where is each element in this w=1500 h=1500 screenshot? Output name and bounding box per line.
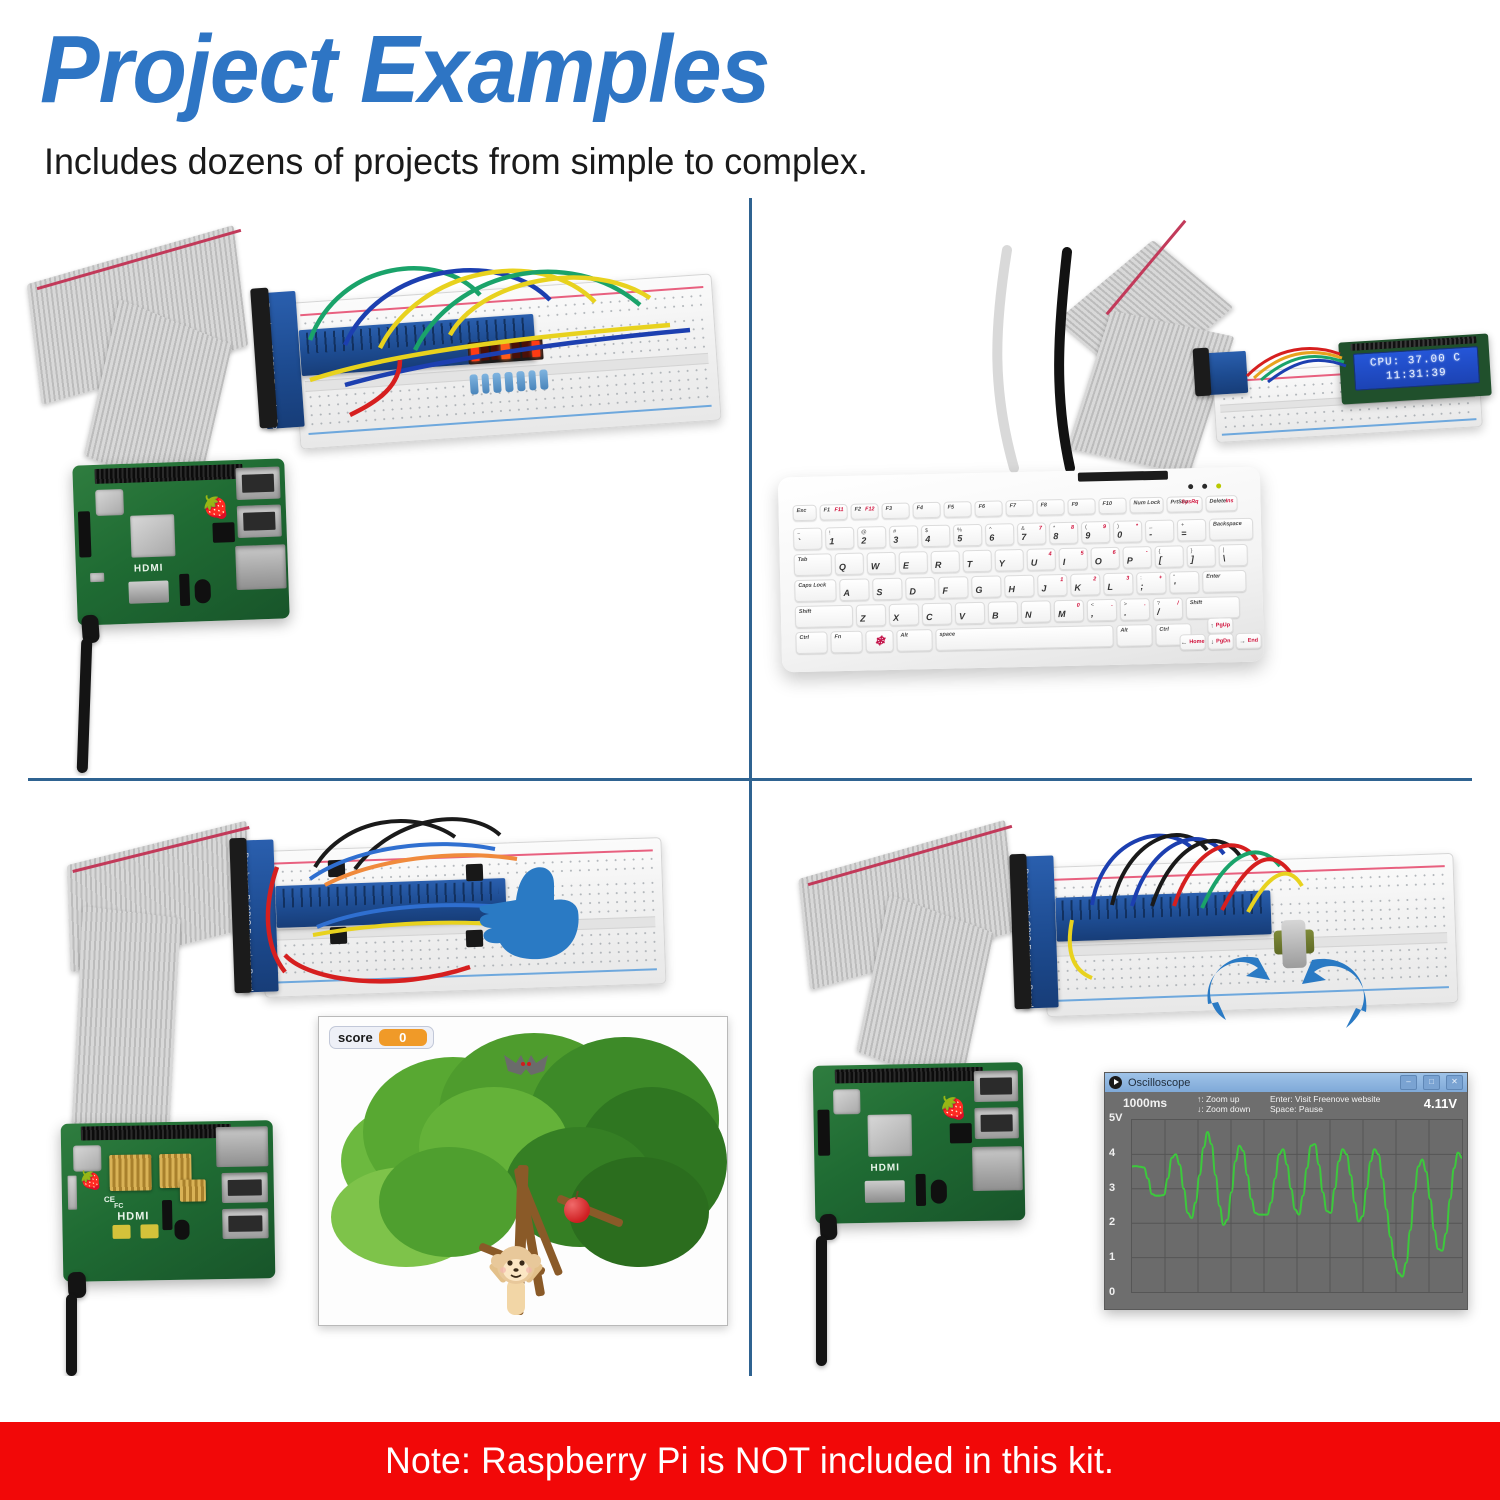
voltage-readout: 4.11V [1424, 1096, 1457, 1111]
key-z[interactable]: Z [856, 604, 886, 627]
key-alt-label: 1 [1060, 577, 1063, 583]
project-panel-scratch-game: Raspberry Pi GPIO Extension Board 🍓 HDMI… [0, 782, 749, 1376]
key-main-label: 3 [893, 535, 898, 545]
key-f9[interactable]: F9 [1067, 498, 1095, 515]
key-q[interactable]: Q [835, 553, 864, 576]
key-raspberry-logo-icon[interactable]: ❄ [865, 630, 893, 653]
key-x[interactable]: X [889, 603, 919, 626]
key-key[interactable]: _- [1145, 520, 1174, 543]
key-main-label: G [975, 585, 982, 595]
key-main-label: F [942, 586, 948, 596]
note-text: Note: Raspberry Pi is NOT included in th… [386, 1440, 1115, 1482]
key-f4[interactable]: F4 [912, 502, 940, 519]
raspberry-pi-board: 🍓 HDMI [813, 1062, 1026, 1224]
key-main-label: R [935, 560, 942, 570]
key-pgdn[interactable]: ↓PgDn [1208, 633, 1234, 650]
key-key[interactable]: += [1177, 519, 1206, 542]
key-arrow-icon: → [1239, 637, 1246, 644]
key-alt-label: 9 [1103, 524, 1106, 530]
key-main-label: 8 [1053, 531, 1058, 541]
jumper-wires [1052, 810, 1382, 990]
key-key[interactable]: <,. [1087, 599, 1117, 622]
key-alt-label: 5 [1081, 551, 1084, 557]
key-main-label: K [1074, 583, 1081, 593]
key-label: Home [1189, 639, 1204, 645]
oscilloscope-infobar: 1000ms ↑: Zoom up ↓: Zoom down Enter: Vi… [1105, 1092, 1467, 1119]
key-6[interactable]: ^6 [985, 523, 1014, 546]
y-axis-label: 0 [1109, 1286, 1115, 1298]
project-panel-lcd-cpu: CPU: 37.00 C 11:31:39 EscF1F11F2F12F3F4F… [752, 200, 1500, 776]
key-f7[interactable]: F7 [1005, 500, 1033, 517]
key-fn[interactable]: Fn [830, 631, 862, 654]
key-main-label: ; [1140, 581, 1143, 591]
key-alt-label: Ins [1225, 498, 1233, 504]
raspberry-pi-4-board: 🍓 HDMI CE FC [61, 1120, 276, 1282]
key-0[interactable]: )0* [1113, 520, 1142, 543]
keyboard-function-row[interactable]: EscF1F11F2F12F3F4F5F6F7F8F9F10Num LockPr… [792, 495, 1237, 521]
key-alt-label: 8 [1071, 525, 1074, 531]
key-main-label: A [843, 588, 850, 598]
bat-sprite [503, 1051, 549, 1081]
key-alt-label: 4 [1049, 551, 1052, 557]
key-main-label: S [876, 587, 882, 597]
key-label: space [939, 632, 955, 638]
minimize-button[interactable]: – [1400, 1075, 1417, 1090]
key-label: Alt [1120, 628, 1127, 634]
key-main-label: Y [999, 558, 1005, 568]
key-f3[interactable]: F3 [881, 503, 909, 520]
key-enter[interactable]: Enter [1202, 570, 1246, 593]
key-main-label: 1 [829, 536, 834, 546]
key-arrow-icon: ← [1181, 639, 1188, 646]
key-g[interactable]: G [971, 575, 1001, 598]
oscilloscope-titlebar[interactable]: Oscilloscope – □ ✕ [1105, 1073, 1467, 1092]
usb-cables [962, 240, 1132, 475]
key-5[interactable]: %5 [953, 524, 982, 547]
key-alt-label: . [1144, 601, 1146, 607]
oscilloscope-trace [1132, 1120, 1462, 1292]
play-icon [1109, 1076, 1122, 1089]
key-main-label: ] [1191, 554, 1194, 564]
key-delete[interactable]: DeleteIns [1205, 495, 1237, 512]
key-f5[interactable]: F5 [943, 501, 971, 518]
key-main-label: W [871, 561, 880, 571]
score-label: score [338, 1030, 373, 1045]
key-space[interactable]: space [935, 625, 1113, 651]
key-main-label: - [1149, 529, 1152, 539]
key-main-label: 5 [957, 533, 962, 543]
page-subtitle: Includes dozens of projects from simple … [44, 142, 868, 182]
key-key[interactable]: |\ [1218, 544, 1247, 567]
key-label: F10 [1102, 501, 1112, 507]
key-label: Delete [1209, 498, 1226, 504]
key-alt[interactable]: Alt [1116, 624, 1152, 647]
key-label: Num Lock [1133, 500, 1160, 507]
key-shift[interactable]: Shift [1186, 596, 1240, 619]
key-label: Shift [799, 609, 811, 615]
key-main-label: E [903, 561, 909, 571]
key-main-label: X [893, 613, 899, 623]
oscilloscope-window[interactable]: Oscilloscope – □ ✕ 1000ms ↑: Zoom up ↓: … [1104, 1072, 1468, 1310]
key-caps-lock[interactable]: Caps Lock [794, 579, 836, 602]
key-arrow-icon: ↑ [1210, 622, 1213, 629]
key-1[interactable]: !1 [825, 527, 854, 550]
keyboard-connector [1078, 471, 1168, 482]
keyboard-led-2 [1216, 483, 1221, 488]
key-4[interactable]: $4 [921, 525, 950, 548]
timebase-label: 1000ms [1123, 1096, 1167, 1110]
key-ctrl[interactable]: Ctrl [795, 631, 827, 654]
keyboard-indicator-leds [1188, 483, 1221, 489]
key-f10[interactable]: F10 [1098, 498, 1126, 515]
key-label: F1 [824, 507, 831, 513]
key-f2[interactable]: F2F12 [850, 503, 878, 520]
key-8[interactable]: *88 [1049, 522, 1078, 545]
key-key[interactable]: ~` [793, 528, 822, 551]
key-main-label: Z [860, 614, 866, 624]
key-label: F7 [1009, 503, 1016, 509]
key-main-label: 2 [861, 536, 866, 546]
key-main-label: ` [797, 537, 800, 547]
key-label: F4 [917, 505, 924, 511]
key-main-label: 0 [1117, 530, 1122, 540]
key-f1[interactable]: F1F11 [819, 504, 847, 521]
key-main-label: 9 [1085, 530, 1090, 540]
page-title: Project Examples [40, 22, 769, 118]
key-h[interactable]: H [1004, 575, 1034, 598]
key-label: PgUp [1216, 622, 1231, 628]
score-badge: score 0 [329, 1026, 434, 1049]
key-w[interactable]: W [867, 552, 896, 575]
key-key[interactable]: >.. [1120, 598, 1150, 621]
note-banner: Note: Raspberry Pi is NOT included in th… [0, 1422, 1500, 1500]
key-alt-label: 2 [1093, 576, 1096, 582]
key-label: F9 [1071, 502, 1078, 508]
key-label: Esc [797, 508, 807, 514]
key-label: F8 [1040, 502, 1047, 508]
window-title: Oscilloscope [1128, 1077, 1394, 1089]
key-alt-label: . [1111, 602, 1113, 608]
key-key[interactable]: {[ [1155, 545, 1184, 568]
key-main-label: U [1031, 558, 1038, 568]
power-cable [77, 638, 93, 773]
key-f6[interactable]: F6 [974, 500, 1002, 517]
project-panel-led-bar: Raspberry Pi GPIO Extension Board [0, 200, 749, 776]
key-key[interactable]: :;+ [1136, 572, 1166, 595]
key-alt-label: 6 [1113, 550, 1116, 556]
y-axis-label: 2 [1109, 1216, 1115, 1228]
key-home[interactable]: ←Home [1180, 634, 1206, 651]
jumper-wires [255, 807, 655, 1007]
key-alt-label: * [1136, 523, 1138, 529]
key-alt-label: 3 [1126, 576, 1129, 582]
key-main-label: . [1124, 608, 1127, 618]
key-key[interactable]: ?// [1153, 597, 1183, 620]
y-axis-label: 5V [1109, 1112, 1122, 1124]
hint-space-pause: Space: Pause [1270, 1104, 1323, 1114]
power-cable [66, 1294, 77, 1376]
key-main-label: I [1063, 557, 1066, 567]
jumper-wires [250, 240, 720, 440]
key-2[interactable]: @2 [857, 526, 886, 549]
key-3[interactable]: #3 [889, 525, 918, 548]
close-button[interactable]: ✕ [1446, 1075, 1463, 1090]
key-i[interactable]: I5 [1059, 547, 1088, 570]
key-label: End [1248, 638, 1259, 644]
key-tab[interactable]: Tab [794, 553, 832, 576]
key-label: Shift [1190, 600, 1202, 606]
key-label: F3 [886, 506, 893, 512]
key-main-label: H [1008, 584, 1015, 594]
hint-zoom-down: ↓: Zoom down [1197, 1104, 1250, 1114]
pointing-hand-icon [462, 854, 587, 964]
key-pgup[interactable]: ↑PgUp [1207, 617, 1233, 634]
key-alt-label: 7 [1039, 526, 1042, 532]
project-panel-oscilloscope: Raspberry Pi GPIO Extension Board 🍓 HDMI [752, 782, 1500, 1376]
key-y[interactable]: Y [995, 549, 1024, 572]
key-u[interactable]: U4 [1027, 548, 1056, 571]
key-l[interactable]: L3 [1103, 572, 1133, 595]
page-header: Project Examples Includes dozens of proj… [0, 0, 1500, 195]
key-label: PgDn [1216, 638, 1231, 644]
key-n[interactable]: N [1021, 600, 1051, 623]
key-main-label: N [1025, 610, 1032, 620]
keyboard-led-0 [1188, 484, 1193, 489]
key-7[interactable]: &77 [1017, 522, 1046, 545]
hint-enter-website: Enter: Visit Freenove website [1270, 1094, 1380, 1104]
key-d[interactable]: D [905, 577, 935, 600]
key-label: Backspace [1213, 521, 1242, 528]
key-main-label: M [1058, 609, 1066, 619]
key-c[interactable]: C [922, 603, 952, 626]
key-main-label: 6 [989, 533, 994, 543]
key-arrow-icon: ↓ [1211, 638, 1214, 645]
key-main-label: Q [839, 562, 846, 572]
key-alt-label: - [1146, 549, 1148, 555]
key-main-label: B [992, 611, 999, 621]
key-esc[interactable]: Esc [792, 505, 816, 522]
key-label: Fn [834, 634, 841, 640]
key-9[interactable]: (99 [1081, 521, 1110, 544]
key-label: Caps Lock [798, 582, 826, 589]
oscilloscope-plot-area [1131, 1119, 1463, 1293]
key-main-label: 4 [925, 534, 930, 544]
key-label: Alt [900, 633, 907, 639]
keyboard-led-1 [1202, 484, 1207, 489]
key-main-label: 7 [1021, 532, 1026, 542]
key-main-label: D [909, 586, 916, 596]
key-main-label: O [1095, 556, 1102, 566]
key-alt-label: / [1177, 600, 1179, 606]
key-alt-label: F11 [834, 507, 843, 513]
key-label: F5 [948, 505, 955, 511]
lcd-line-2: 11:31:39 [1386, 367, 1448, 384]
key-main-label: P [1127, 555, 1133, 565]
key-num-lock[interactable]: Num Lock [1129, 497, 1163, 514]
key-j[interactable]: J1 [1037, 574, 1067, 597]
key-alt[interactable]: Alt [896, 629, 932, 652]
key-shift[interactable]: Shift [795, 605, 853, 628]
key-r[interactable]: R [931, 550, 960, 573]
key-label: Enter [1206, 573, 1220, 579]
key-f[interactable]: F [938, 576, 968, 599]
key-k[interactable]: K2 [1070, 573, 1100, 596]
key-alt-label: + [1159, 575, 1162, 581]
key-t[interactable]: T [963, 550, 992, 573]
key-s[interactable]: S [872, 578, 902, 601]
idc-connector [1193, 348, 1212, 397]
key-e[interactable]: E [899, 551, 928, 574]
maximize-button[interactable]: □ [1423, 1075, 1440, 1090]
key-main-label: T [967, 559, 973, 569]
key-main-label: V [959, 611, 965, 621]
key-spacer [1179, 618, 1205, 633]
key-alt-label: SysRq [1181, 499, 1198, 505]
key-alt-label: F12 [865, 506, 875, 512]
key-o[interactable]: O6 [1091, 547, 1120, 570]
key-label: F6 [979, 504, 986, 510]
apple-sprite [564, 1197, 590, 1223]
keyboard-navigation-keys[interactable]: ↑PgUp←Home↓PgDn→End [1179, 617, 1262, 649]
key-main-label: C [926, 612, 933, 622]
key-alt-label: 0 [1077, 603, 1080, 609]
keyboard-modifier-row[interactable]: CtrlFn❄AltspaceAltCtrl [795, 623, 1191, 654]
hint-zoom-up: ↑: Zoom up [1197, 1094, 1240, 1104]
score-value: 0 [379, 1029, 427, 1046]
y-axis-label: 1 [1109, 1251, 1115, 1263]
key-main-label: = [1181, 528, 1186, 538]
key-main-label: , [1091, 608, 1094, 618]
scratch-stage[interactable]: score 0 [318, 1016, 728, 1326]
key-end[interactable]: →End [1235, 633, 1261, 650]
key-main-label: J [1041, 583, 1046, 593]
monkey-sprite [485, 1239, 547, 1319]
key-prtscn[interactable]: PrtScnSysRq [1166, 496, 1202, 513]
key-label: Ctrl [1159, 627, 1169, 633]
key-label: Ctrl [799, 635, 809, 641]
key-v[interactable]: V [955, 602, 985, 625]
raspberry-pi-board: 🍓 HDMI [72, 458, 289, 625]
key-f8[interactable]: F8 [1036, 499, 1064, 516]
key-main-label: / [1157, 607, 1160, 617]
raspberry-pi-keyboard[interactable]: EscF1F11F2F12F3F4F5F6F7F8F9F10Num LockPr… [778, 467, 1264, 673]
key-key[interactable]: "' [1169, 571, 1199, 594]
lcd-screen: CPU: 37.00 C 11:31:39 [1352, 347, 1479, 391]
y-axis-label: 4 [1109, 1147, 1115, 1159]
key-label: Tab [798, 557, 808, 563]
key-p[interactable]: P- [1123, 546, 1152, 569]
lcd1602-module: CPU: 37.00 C 11:31:39 [1338, 333, 1492, 404]
key-main-label: ' [1173, 580, 1175, 590]
key-main-label: L [1107, 582, 1113, 592]
key-a[interactable]: A [839, 578, 869, 601]
key-main-label: [ [1159, 555, 1162, 565]
key-key[interactable]: }] [1186, 545, 1215, 568]
key-m[interactable]: M0 [1054, 600, 1084, 623]
key-main-label: \ [1223, 553, 1226, 563]
jumper-wires [1242, 340, 1352, 390]
key-b[interactable]: B [988, 601, 1018, 624]
key-backspace[interactable]: Backspace [1209, 518, 1253, 541]
y-axis-label: 3 [1109, 1182, 1115, 1194]
key-label: F2 [855, 507, 862, 513]
power-cable [816, 1236, 827, 1366]
key-spacer [1235, 617, 1261, 632]
